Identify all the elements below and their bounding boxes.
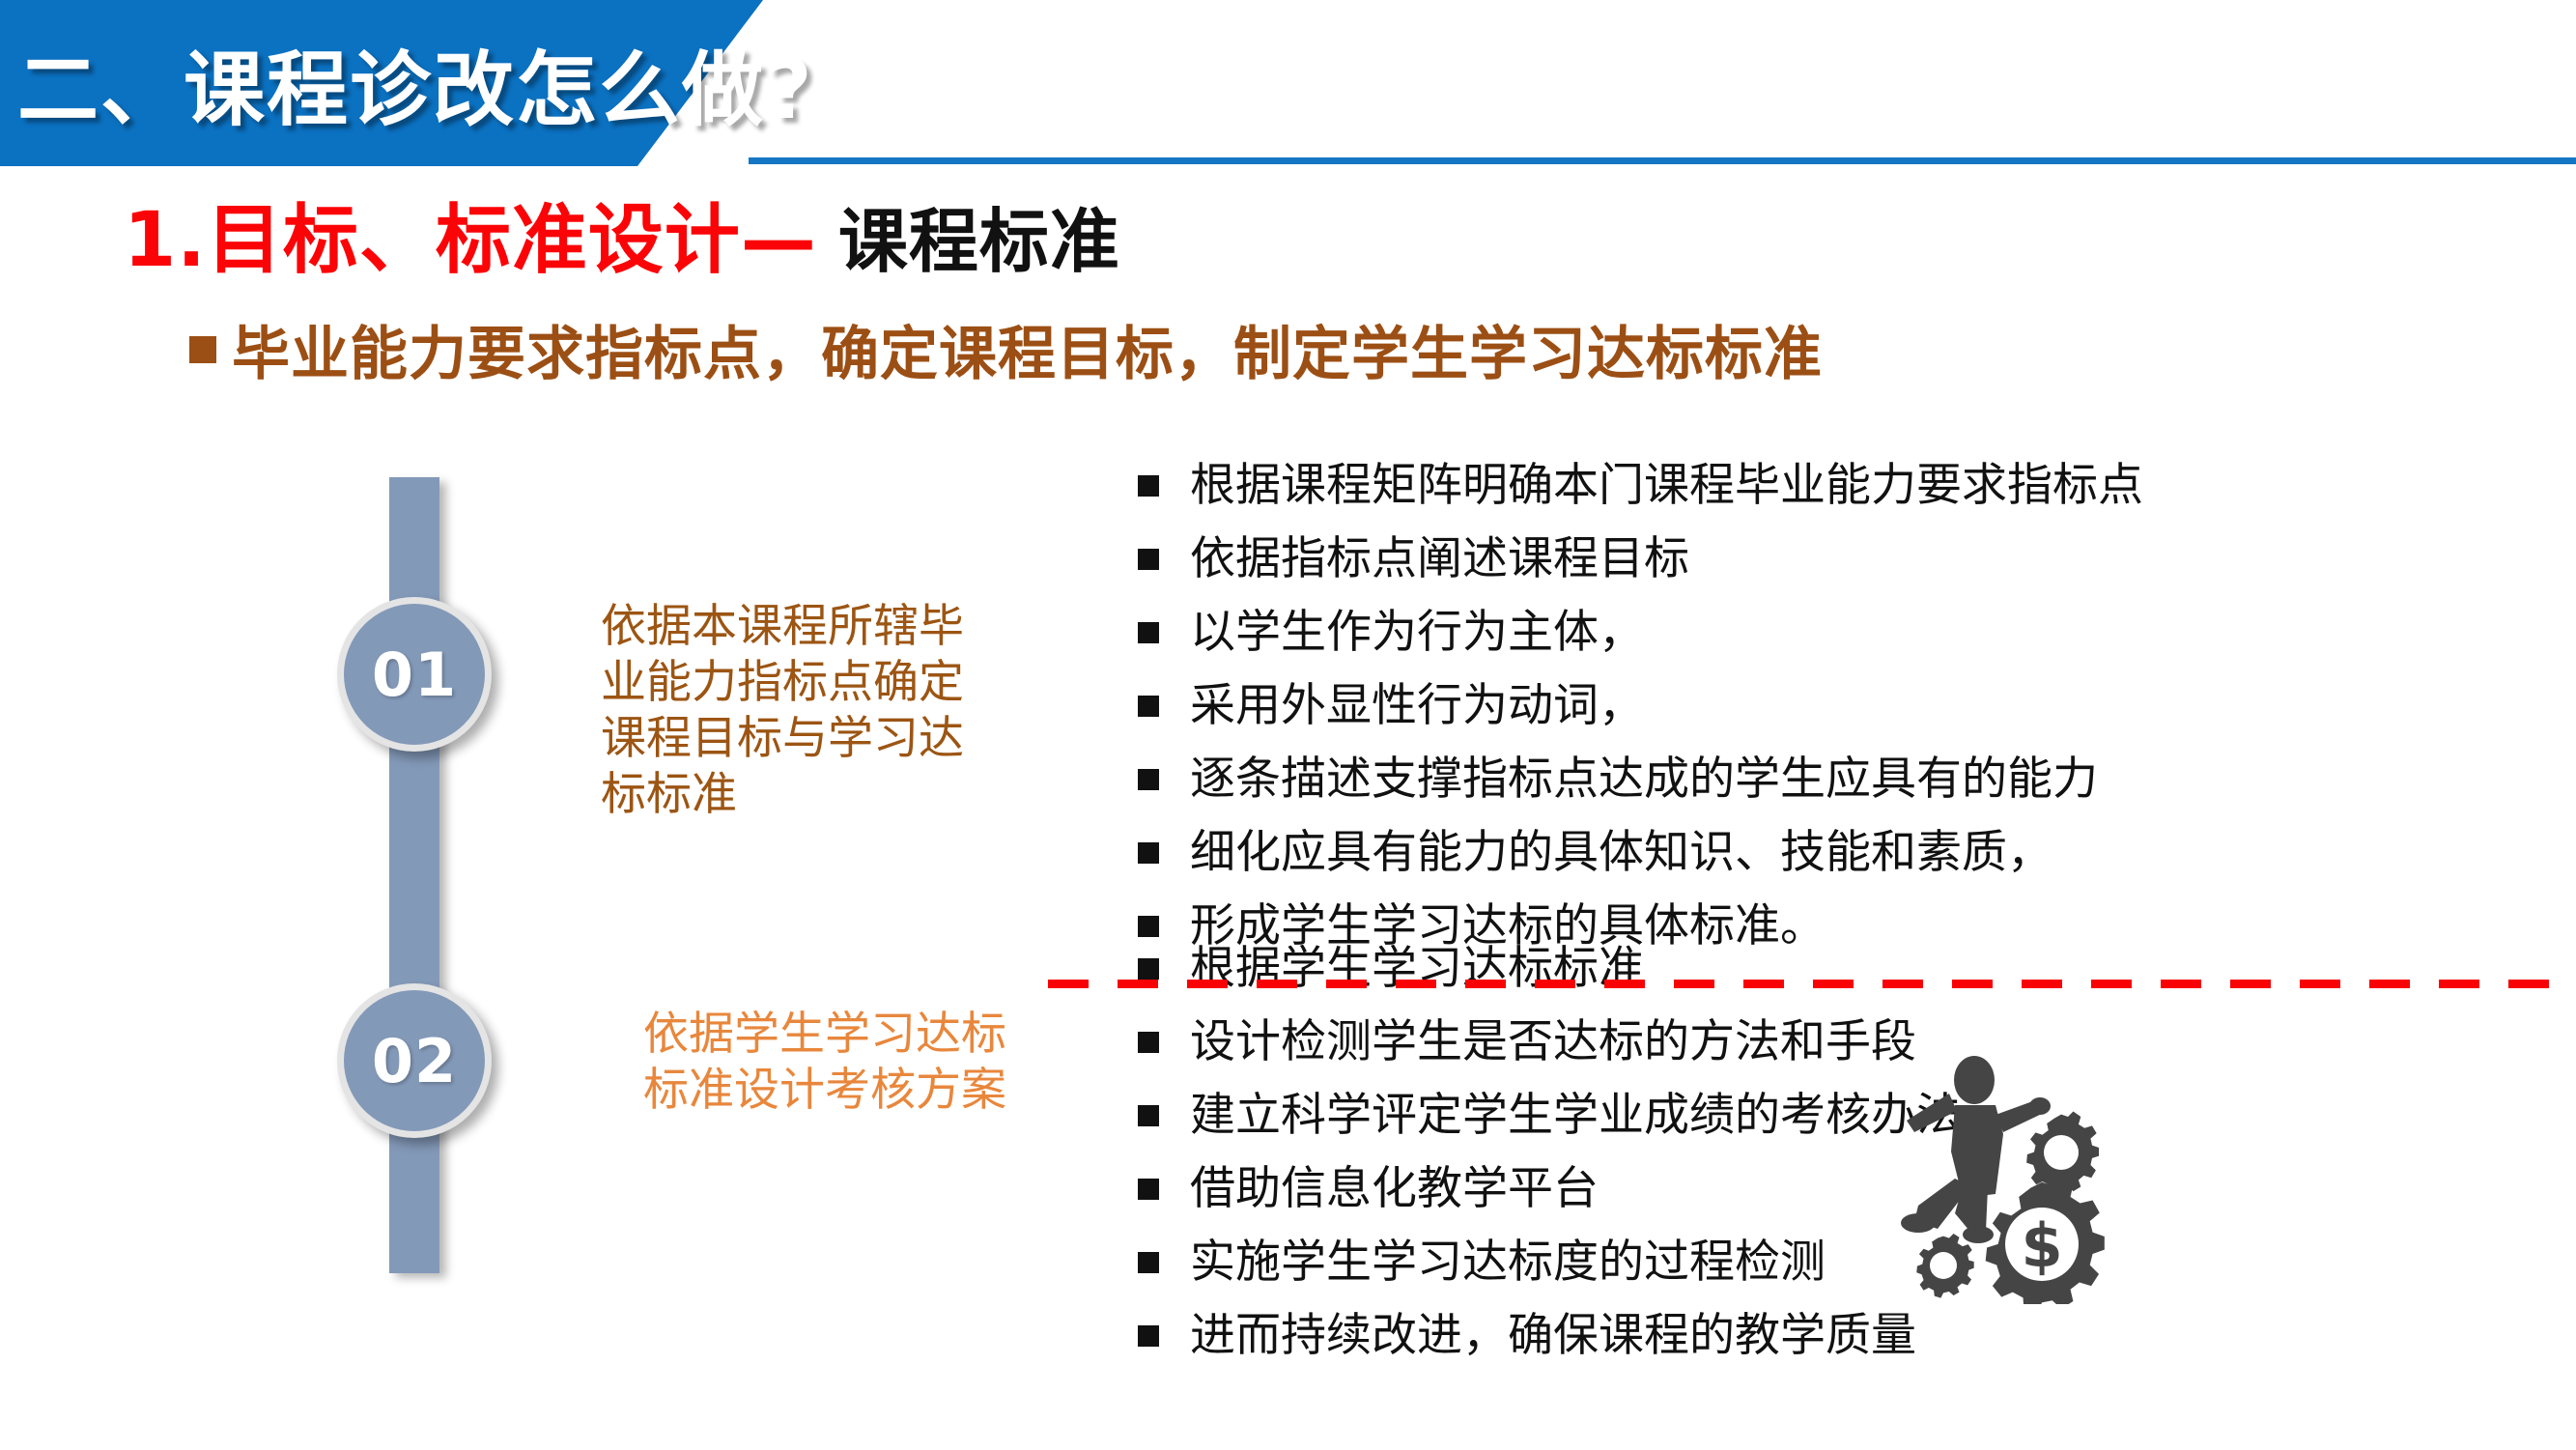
step-number-01: 01 [372, 640, 457, 710]
step-label-01-line: 业能力指标点确定 [601, 655, 1006, 711]
list-item: 依据指标点阐述课程目标 [1138, 533, 2529, 585]
list-item-text: 实施学生学习达标度的过程检测 [1190, 1237, 1826, 1289]
list-item: 根据课程矩阵明确本门课程毕业能力要求指标点 [1138, 460, 2529, 512]
bullet-list-top: 根据课程矩阵明确本门课程毕业能力要求指标点 依据指标点阐述课程目标 以学生作为行… [1138, 460, 2529, 974]
step-label-01: 依据本课程所辖毕 业能力指标点确定 课程目标与学习达 标标准 [601, 599, 1006, 823]
header-divider-line [749, 157, 2576, 164]
square-bullet-icon [189, 336, 216, 363]
page-title: 1.目标、标准设计— 课程标准 [124, 180, 1120, 288]
header-title: 二、课程诊改怎么做? [17, 6, 751, 160]
subtitle: 毕业能力要求指标点，确定课程目标，制定学生学习达标标准 [189, 307, 1823, 391]
square-bullet-icon [1138, 549, 1159, 570]
list-item: 建立科学评定学生学业成绩的考核办法 [1138, 1090, 2529, 1142]
square-bullet-icon [1138, 622, 1159, 643]
list-item-text: 根据课程矩阵明确本门课程毕业能力要求指标点 [1190, 460, 2143, 512]
list-item: 逐条描述支撑指标点达成的学生应具有的能力 [1138, 753, 2529, 806]
step-circle-02[interactable]: 02 [337, 983, 492, 1138]
square-bullet-icon [1138, 1179, 1159, 1200]
list-item-text: 细化应具有能力的具体知识、技能和素质， [1190, 827, 2052, 879]
step-label-01-line: 依据本课程所辖毕 [601, 599, 1006, 655]
businessman-gears-icon: $ [1895, 1051, 2146, 1304]
step-label-02-line: 标准设计考核方案 [601, 1063, 1006, 1119]
square-bullet-icon [1138, 958, 1159, 980]
square-bullet-icon [1138, 1252, 1159, 1273]
square-bullet-icon [1138, 696, 1159, 717]
step-number-02: 02 [372, 1026, 457, 1096]
square-bullet-icon [1138, 916, 1159, 937]
bullet-list-bottom: 根据学生学习达标标准 设计检测学生是否达标的方法和手段 建立科学评定学生学业成绩… [1138, 943, 2529, 1383]
step-label-02-line: 依据学生学习达标 [601, 1007, 1006, 1063]
list-item: 细化应具有能力的具体知识、技能和素质， [1138, 827, 2529, 879]
page-title-red: 1.目标、标准设计— [124, 180, 817, 288]
list-item: 借助信息化教学平台 [1138, 1163, 2529, 1215]
square-bullet-icon [1138, 1325, 1159, 1347]
list-item-text: 逐条描述支撑指标点达成的学生应具有的能力 [1190, 753, 2098, 806]
square-bullet-icon [1138, 475, 1159, 497]
list-item: 进而持续改进，确保课程的教学质量 [1138, 1310, 2529, 1362]
list-item-text: 建立科学评定学生学业成绩的考核办法 [1190, 1090, 1962, 1142]
step-label-02: 依据学生学习达标 标准设计考核方案 [601, 1007, 1006, 1119]
list-item-text: 进而持续改进，确保课程的教学质量 [1190, 1310, 1916, 1362]
page-title-black: 课程标准 [838, 185, 1120, 286]
square-bullet-icon [1138, 1032, 1159, 1053]
subtitle-text: 毕业能力要求指标点，确定课程目标，制定学生学习达标标准 [232, 307, 1823, 391]
list-item: 采用外显性行为动词， [1138, 680, 2529, 732]
list-item-text: 借助信息化教学平台 [1190, 1163, 1599, 1215]
list-item-text: 采用外显性行为动词， [1190, 680, 1644, 732]
red-dashed-line [1048, 980, 2576, 988]
square-bullet-icon [1138, 842, 1159, 864]
list-item-text: 设计检测学生是否达标的方法和手段 [1190, 1016, 1916, 1068]
list-item: 以学生作为行为主体， [1138, 607, 2529, 659]
list-item-text: 依据指标点阐述课程目标 [1190, 533, 1689, 585]
step-circle-01[interactable]: 01 [337, 597, 492, 752]
step-label-01-line: 标标准 [601, 767, 1006, 823]
list-item: 实施学生学习达标度的过程检测 [1138, 1237, 2529, 1289]
slide-canvas: 二、课程诊改怎么做? 1.目标、标准设计— 课程标准 毕业能力要求指标点，确定课… [0, 0, 2576, 1450]
list-item: 设计检测学生是否达标的方法和手段 [1138, 1016, 2529, 1068]
step-label-01-line: 课程目标与学习达 [601, 711, 1006, 767]
square-bullet-icon [1138, 769, 1159, 790]
square-bullet-icon [1138, 1105, 1159, 1126]
dollar-symbol: $ [2021, 1210, 2062, 1281]
list-item-text: 以学生作为行为主体， [1190, 607, 1644, 659]
